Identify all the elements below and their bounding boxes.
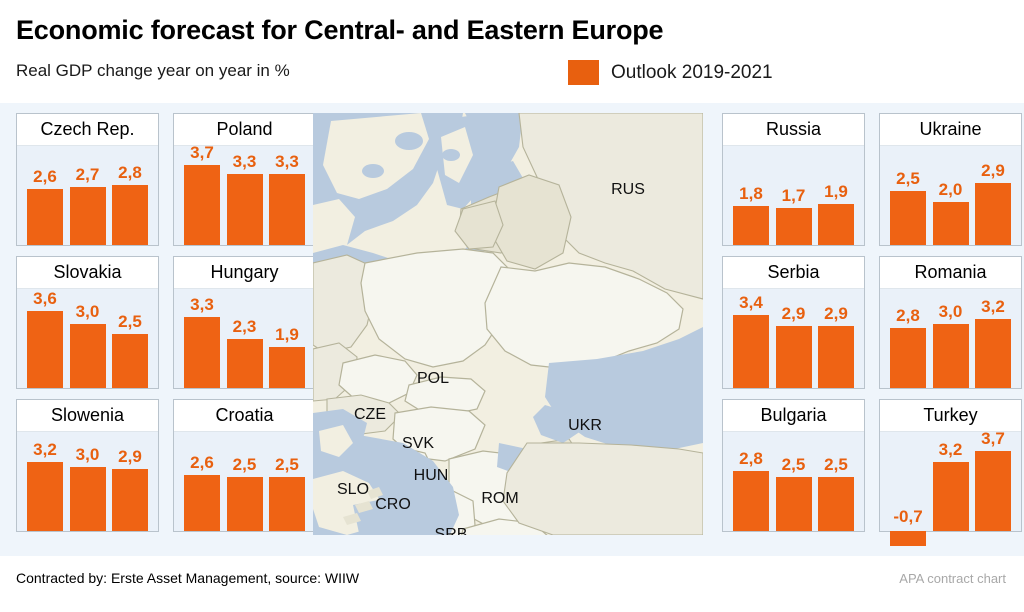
bar [269,174,305,245]
bar-group: 3,63,02,5 [27,289,148,388]
bar-slot: -0,7 [890,432,926,531]
header: Economic forecast for Central- and Easte… [0,0,1024,103]
bar-slot: 2,9 [975,146,1011,245]
bar-value-label: 2,5 [824,455,848,475]
bar-slot: 2,6 [27,146,63,245]
map-label-slo: SLO [337,481,369,499]
bar-slot: 2,7 [70,146,106,245]
bar-value-label: -0,7 [893,507,922,527]
page-title: Economic forecast for Central- and Easte… [16,15,663,46]
country-panel-bulgaria: Bulgaria2,82,52,5 [722,399,865,532]
bar-value-label: 2,7 [76,165,100,185]
bar-value-label: 3,0 [939,302,963,322]
bar-value-label: 2,0 [939,180,963,200]
bar [975,319,1011,388]
panel-plot: 2,83,03,2 [880,289,1021,388]
bar-slot: 2,8 [733,432,769,531]
bar [933,202,969,245]
bar [227,174,263,245]
panel-plot: 2,52,02,9 [880,146,1021,245]
panel-title: Romania [914,262,986,283]
footer-source: Contracted by: Erste Asset Management, s… [16,570,359,586]
map-label-rom: ROM [481,490,518,508]
map-label-cze: CZE [354,406,386,424]
panel-plot: 2,82,52,5 [723,432,864,531]
bar [733,315,769,388]
bar-value-label: 2,5 [896,169,920,189]
bar-slot: 2,3 [227,289,263,388]
panel-title: Ukraine [919,119,981,140]
bar [933,324,969,389]
bar-group: 1,81,71,9 [733,146,854,245]
bar-slot: 1,9 [269,289,305,388]
bar [733,471,769,531]
bar-slot: 3,3 [269,146,305,245]
bar-group: 2,83,03,2 [890,289,1011,388]
bar-value-label: 2,9 [981,161,1005,181]
bar [269,347,305,388]
legend: Outlook 2019-2021 [568,60,773,85]
panel-header: Poland [174,114,315,146]
bar-slot: 1,7 [776,146,812,245]
bar-group: 2,82,52,5 [733,432,854,531]
bar [890,328,926,388]
bar-slot: 3,3 [184,289,220,388]
bar [890,191,926,245]
panel-plot: 3,63,02,5 [17,289,158,388]
panel-title: Serbia [767,262,819,283]
bar-value-label: 3,2 [981,297,1005,317]
bar-value-label: 2,5 [118,312,142,332]
bar-group: 3,42,92,9 [733,289,854,388]
bar [184,165,220,245]
panel-title: Turkey [923,405,977,426]
infographic-root: Economic forecast for Central- and Easte… [0,0,1024,612]
bar-value-label: 3,4 [739,293,763,313]
bar [227,339,263,388]
bar [933,462,969,531]
bar-value-label: 2,5 [782,455,806,475]
panel-plot: 3,42,92,9 [723,289,864,388]
panel-header: Russia [723,114,864,146]
bar-slot: 2,5 [818,432,854,531]
map-label-pol: POL [417,370,449,388]
panel-plot: 1,81,71,9 [723,146,864,245]
panel-header: Czech Rep. [17,114,158,146]
bar-slot: 3,4 [733,289,769,388]
bar-value-label: 3,0 [76,445,100,465]
bar-value-label: 3,0 [76,302,100,322]
bar-value-label: 2,6 [190,453,214,473]
bar [975,183,1011,245]
chart-subtitle: Real GDP change year on year in % [16,61,290,81]
bar-value-label: 2,5 [275,455,299,475]
bar-slot: 2,5 [227,432,263,531]
bar [227,477,263,531]
bar [818,326,854,388]
bar-slot: 2,9 [112,432,148,531]
bar-value-label: 3,2 [33,440,57,460]
bar-slot: 2,8 [890,289,926,388]
panel-grid-left: Czech Rep.2,62,72,8Poland3,73,33,3Slovak… [16,113,316,532]
bar-value-label: 2,9 [782,304,806,324]
country-panel-slovakia: Slovakia3,63,02,5 [16,256,159,389]
panel-grid-right: Russia1,81,71,9Ukraine2,52,02,9Serbia3,4… [722,113,1022,532]
country-panel-croatia: Croatia2,62,52,5 [173,399,316,532]
bar [184,475,220,531]
bar-value-label: 3,3 [190,295,214,315]
country-panel-romania: Romania2,83,03,2 [879,256,1022,389]
bar-group: 3,23,02,9 [27,432,148,531]
bar-slot: 3,3 [227,146,263,245]
bar-group: -0,73,23,7 [890,432,1011,531]
map-label-svk: SVK [402,435,434,453]
panel-title: Russia [766,119,821,140]
bar-value-label: 3,7 [981,429,1005,449]
bar [776,326,812,388]
bar [27,189,63,245]
country-panel-russia: Russia1,81,71,9 [722,113,865,246]
country-panel-czech-rep: Czech Rep.2,62,72,8 [16,113,159,246]
panel-title: Slowenia [51,405,124,426]
bar-value-label: 2,8 [739,449,763,469]
bar-slot: 3,0 [70,432,106,531]
bar-slot: 3,2 [975,289,1011,388]
bar-value-label: 2,6 [33,167,57,187]
bar-slot: 2,5 [269,432,305,531]
bar-slot: 3,2 [933,432,969,531]
country-panel-serbia: Serbia3,42,92,9 [722,256,865,389]
bar [70,467,106,532]
panel-header: Ukraine [880,114,1021,146]
panel-header: Slowenia [17,400,158,432]
bar [112,185,148,245]
bar-value-label: 2,9 [824,304,848,324]
bar-group: 2,62,72,8 [27,146,148,245]
bar-value-label: 1,7 [782,186,806,206]
bar [776,208,812,245]
bar-value-label: 2,8 [118,163,142,183]
bar-slot: 2,9 [818,289,854,388]
panel-plot: 2,62,52,5 [174,432,315,531]
bar-value-label: 3,3 [233,152,257,172]
country-panel-turkey: Turkey-0,73,23,7 [879,399,1022,532]
bar [733,206,769,245]
footer-credit: APA contract chart [899,571,1006,586]
bar-group: 3,73,33,3 [184,146,305,245]
bar-value-label: 2,8 [896,306,920,326]
panel-plot: -0,73,23,7 [880,432,1021,531]
bar-slot: 3,0 [70,289,106,388]
bar [776,477,812,531]
bar-value-label: 1,9 [824,182,848,202]
bar [112,334,148,388]
bar-slot: 2,0 [933,146,969,245]
bar [27,311,63,388]
panel-title: Slovakia [53,262,121,283]
panel-title: Hungary [210,262,278,283]
bar-slot: 3,7 [184,146,220,245]
country-panel-hungary: Hungary3,32,31,9 [173,256,316,389]
bar-value-label: 2,5 [233,455,257,475]
bar-slot: 2,9 [776,289,812,388]
bar [975,451,1011,531]
bar-value-label: 3,3 [275,152,299,172]
bar-slot: 2,5 [776,432,812,531]
panel-plot: 3,73,33,3 [174,146,315,245]
map-label-rus: RUS [611,181,645,199]
footer: Contracted by: Erste Asset Management, s… [0,556,1024,612]
country-panel-slowenia: Slowenia3,23,02,9 [16,399,159,532]
panel-plot: 3,32,31,9 [174,289,315,388]
panel-title: Bulgaria [760,405,826,426]
panel-header: Turkey [880,400,1021,432]
bar [818,477,854,531]
bar-slot: 2,5 [890,146,926,245]
bar-value-label: 3,7 [190,143,214,163]
legend-label: Outlook 2019-2021 [611,62,773,84]
country-panel-ukraine: Ukraine2,52,02,9 [879,113,1022,246]
bar [70,324,106,389]
map-label-srb: SRB [435,526,468,535]
bar-slot: 1,9 [818,146,854,245]
bar-value-label: 1,9 [275,325,299,345]
bar-slot: 1,8 [733,146,769,245]
map-graphic [313,113,703,535]
bar-group: 2,52,02,9 [890,146,1011,245]
bar-slot: 2,8 [112,146,148,245]
bar-value-label: 1,8 [739,184,763,204]
bar-slot: 2,6 [184,432,220,531]
bar-slot: 2,5 [112,289,148,388]
bar-value-label: 3,6 [33,289,57,309]
panel-header: Serbia [723,257,864,289]
bar [818,204,854,245]
panel-header: Romania [880,257,1021,289]
bar-slot: 3,2 [27,432,63,531]
map-label-hun: HUN [414,467,449,485]
panel-header: Slovakia [17,257,158,289]
region-map: RUSPOLCZESVKUKRSLOHUNCROROMSRBBULTUR [313,113,703,535]
panel-plot: 3,23,02,9 [17,432,158,531]
bar-value-label: 3,2 [939,440,963,460]
panel-header: Hungary [174,257,315,289]
panel-title: Poland [216,119,272,140]
bar-slot: 3,0 [933,289,969,388]
bar [27,462,63,531]
panel-title: Czech Rep. [40,119,134,140]
bar-slot: 3,6 [27,289,63,388]
bar [890,531,926,546]
panel-plot: 2,62,72,8 [17,146,158,245]
map-label-cro: CRO [375,496,411,514]
bar-value-label: 2,3 [233,317,257,337]
bar [269,477,305,531]
bar [70,187,106,245]
bar [184,317,220,388]
panel-header: Bulgaria [723,400,864,432]
country-panel-poland: Poland3,73,33,3 [173,113,316,246]
bar-group: 3,32,31,9 [184,289,305,388]
panel-title: Croatia [215,405,273,426]
panel-header: Croatia [174,400,315,432]
bar-value-label: 2,9 [118,447,142,467]
bar [112,469,148,531]
bar-slot: 3,7 [975,432,1011,531]
map-label-ukr: UKR [568,417,602,435]
bar-group: 2,62,52,5 [184,432,305,531]
legend-swatch-icon [568,60,599,85]
